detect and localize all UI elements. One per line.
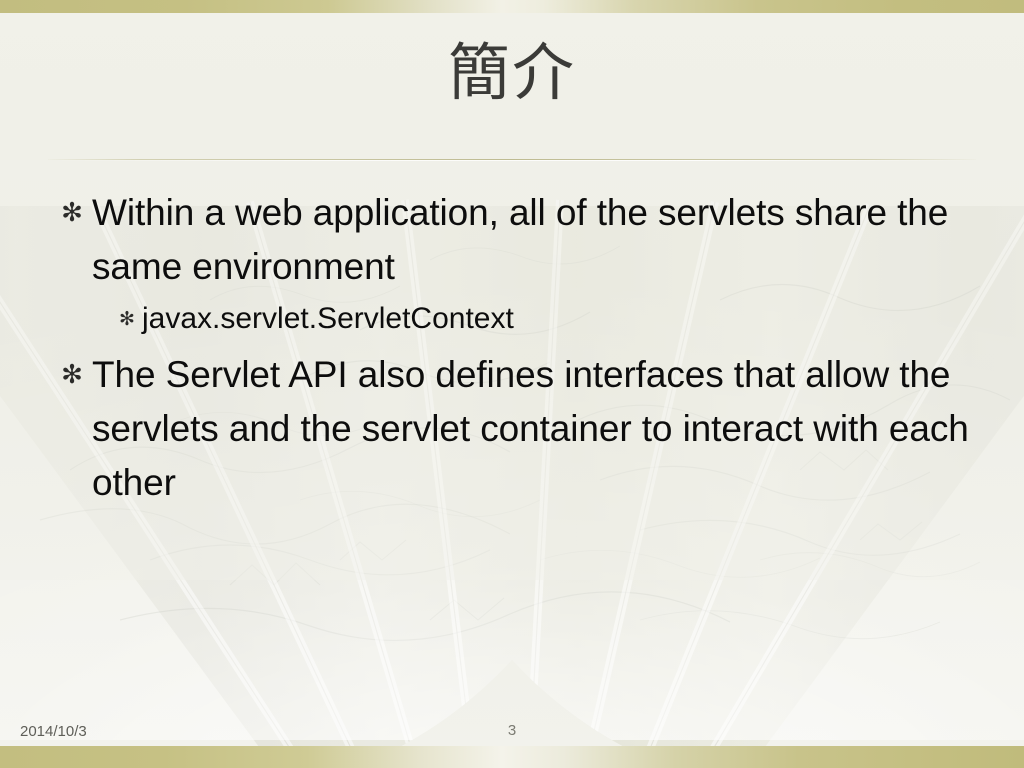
asterisk-bullet-icon: ✻ bbox=[52, 186, 92, 240]
bottom-gold-band bbox=[0, 746, 1024, 768]
list-item: ✻ javax.servlet.ServletContext bbox=[52, 298, 982, 340]
asterisk-bullet-icon: ✻ bbox=[52, 348, 92, 402]
top-gold-band bbox=[0, 0, 1024, 13]
list-item: ✻ The Servlet API also defines interface… bbox=[52, 348, 982, 510]
asterisk-bullet-icon: ✻ bbox=[112, 298, 142, 340]
divider-highlight bbox=[48, 160, 976, 161]
bullet-text: The Servlet API also defines interfaces … bbox=[92, 348, 982, 510]
list-item: ✻ Within a web application, all of the s… bbox=[52, 186, 982, 294]
title-divider bbox=[48, 158, 976, 161]
slide-number: 3 bbox=[0, 722, 1024, 739]
page-title: 簡介 bbox=[0, 40, 1024, 105]
bullet-text: javax.servlet.ServletContext bbox=[142, 298, 982, 340]
bullet-text: Within a web application, all of the ser… bbox=[92, 186, 982, 294]
slide-body: ✻ Within a web application, all of the s… bbox=[52, 186, 982, 512]
presentation-slide: 簡介 ✻ Within a web application, all of th… bbox=[0, 0, 1024, 768]
